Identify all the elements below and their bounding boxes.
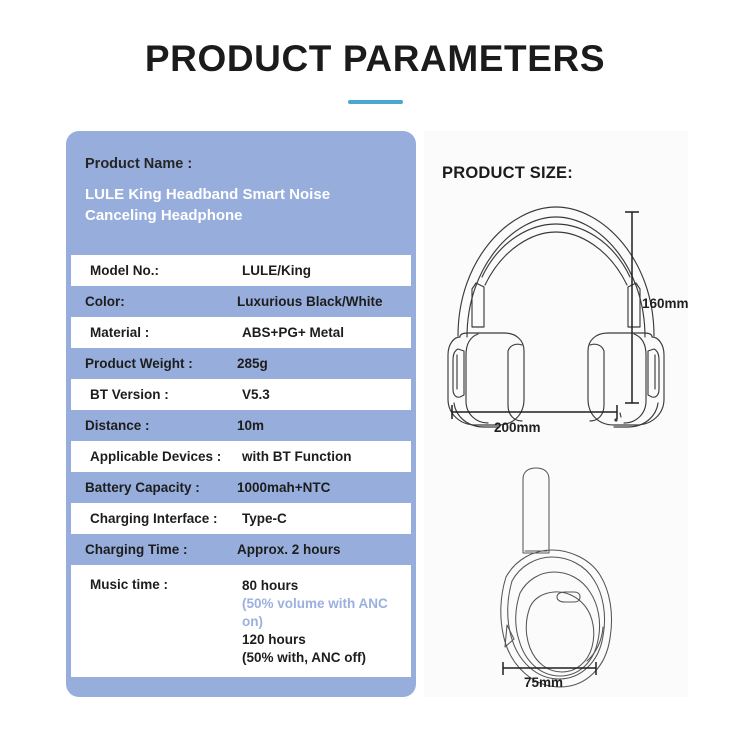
table-row: Material : ABS+PG+ Metal bbox=[71, 317, 411, 348]
spec-value: 285g bbox=[237, 356, 416, 371]
page-title: PRODUCT PARAMETERS bbox=[0, 38, 750, 80]
table-row-music-time: Music time : 80 hours (50% volume with A… bbox=[71, 565, 411, 677]
headphone-side-view-icon bbox=[501, 468, 612, 687]
table-row: Applicable Devices : with BT Function bbox=[71, 441, 411, 472]
spec-value: with BT Function bbox=[242, 449, 411, 464]
dimension-line-height-160mm bbox=[625, 212, 639, 403]
spec-label: BT Version : bbox=[90, 387, 242, 402]
spec-value: Type-C bbox=[242, 511, 411, 526]
dimension-label-width-200mm: 200mm bbox=[494, 420, 541, 435]
dimension-label-height-160mm: 160mm bbox=[642, 296, 689, 311]
page-header: PRODUCT PARAMETERS bbox=[0, 0, 750, 120]
dimension-label-width-75mm: 75mm bbox=[524, 675, 563, 690]
music-time-line2: 120 hours bbox=[242, 631, 411, 649]
spec-value: 80 hours (50% volume with ANC on) 120 ho… bbox=[242, 577, 411, 667]
music-time-line2-note: (50% with, ANC off) bbox=[242, 649, 411, 667]
spec-table: Model No.: LULE/King Color: Luxurious Bl… bbox=[66, 255, 416, 677]
table-row: Product Weight : 285g bbox=[66, 348, 416, 379]
spec-value: LULE/King bbox=[242, 263, 411, 278]
spec-label: Charging Time : bbox=[85, 542, 237, 557]
spec-value: Luxurious Black/White bbox=[237, 294, 416, 309]
product-name-label: Product Name : bbox=[85, 156, 397, 172]
spec-value: 1000mah+NTC bbox=[237, 480, 416, 495]
spec-value: V5.3 bbox=[242, 387, 411, 402]
spec-label: Applicable Devices : bbox=[90, 449, 242, 464]
spec-label: Music time : bbox=[90, 577, 242, 592]
spec-label: Model No.: bbox=[90, 263, 242, 278]
headphone-diagrams bbox=[424, 131, 688, 697]
product-size-panel: PRODUCT SIZE: bbox=[424, 131, 688, 697]
spec-label: Charging Interface : bbox=[90, 511, 242, 526]
spec-value: ABS+PG+ Metal bbox=[242, 325, 411, 340]
product-parameters-page: PRODUCT PARAMETERS Product Name : LULE K… bbox=[0, 0, 750, 750]
music-time-line1-note: (50% volume with ANC on) bbox=[242, 595, 411, 631]
product-name-value: LULE King Headband Smart Noise Canceling… bbox=[85, 184, 397, 227]
table-row: Distance : 10m bbox=[66, 410, 416, 441]
spec-label: Material : bbox=[90, 325, 242, 340]
spec-label: Product Weight : bbox=[85, 356, 237, 371]
table-row: Model No.: LULE/King bbox=[71, 255, 411, 286]
table-row: BT Version : V5.3 bbox=[71, 379, 411, 410]
spec-label: Battery Capacity : bbox=[85, 480, 237, 495]
spec-value: Approx. 2 hours bbox=[237, 542, 416, 557]
spec-label: Color: bbox=[85, 294, 237, 309]
specification-card: Product Name : LULE King Headband Smart … bbox=[66, 131, 416, 697]
table-row: Charging Time : Approx. 2 hours bbox=[66, 534, 416, 565]
spec-value: 10m bbox=[237, 418, 416, 433]
title-accent-divider bbox=[348, 100, 403, 104]
table-row: Charging Interface : Type-C bbox=[71, 503, 411, 534]
spec-label: Distance : bbox=[85, 418, 237, 433]
music-time-line1: 80 hours bbox=[242, 577, 411, 595]
table-row: Color: Luxurious Black/White bbox=[66, 286, 416, 317]
dimension-line-width-200mm bbox=[452, 405, 617, 419]
table-row: Battery Capacity : 1000mah+NTC bbox=[66, 472, 416, 503]
product-name-block: Product Name : LULE King Headband Smart … bbox=[66, 131, 416, 237]
